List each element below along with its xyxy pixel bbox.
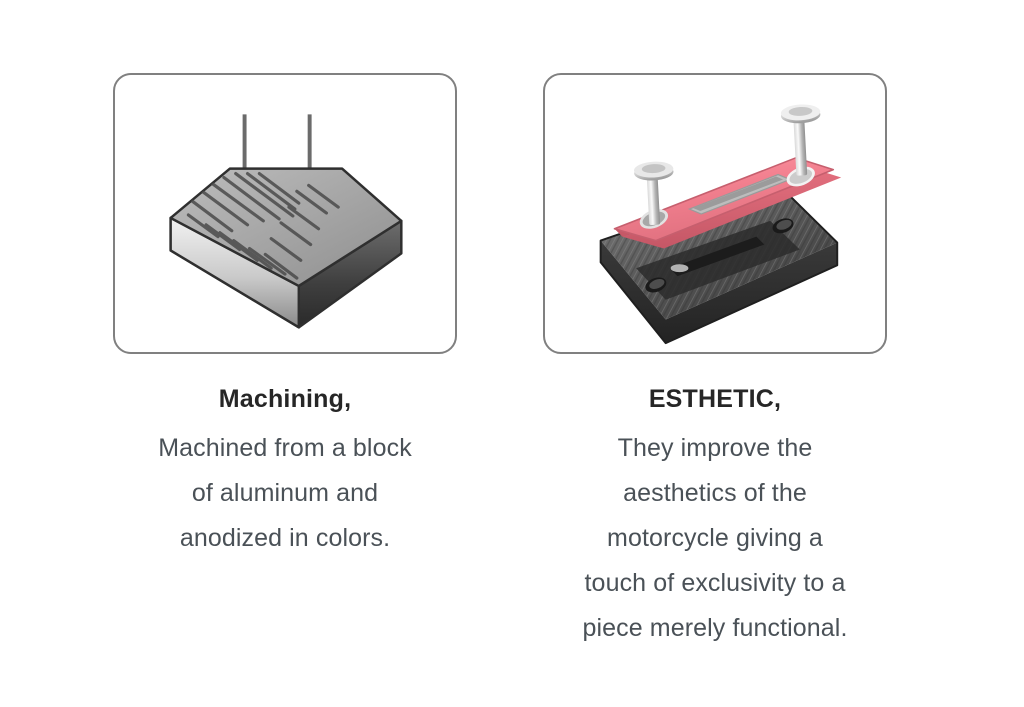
anodized-bracket-icon (545, 75, 885, 352)
esthetic-description-line: aesthetics of the (535, 471, 895, 516)
machining-description-line: of aluminum and (105, 471, 465, 516)
machining-icon-card (113, 73, 457, 354)
esthetic-icon-card (543, 73, 887, 354)
cnc-milling-icon (115, 75, 455, 352)
esthetic-description-line: motorcycle giving a (535, 516, 895, 561)
esthetic-title: ESTHETIC, (649, 384, 781, 414)
machining-description: Machined from a block of aluminum and an… (105, 426, 465, 561)
esthetic-description: They improve the aesthetics of the motor… (535, 426, 895, 651)
feature-column-esthetic: ESTHETIC, They improve the aesthetics of… (542, 73, 888, 651)
machining-title: Machining, (219, 384, 352, 414)
machining-description-line: Machined from a block (105, 426, 465, 471)
feature-grid: Machining, Machined from a block of alum… (0, 0, 1024, 707)
esthetic-description-line: touch of exclusivity to a (535, 561, 895, 606)
feature-column-machining: Machining, Machined from a block of alum… (112, 73, 458, 561)
esthetic-description-line: They improve the (535, 426, 895, 471)
esthetic-description-line: piece merely functional. (535, 606, 895, 651)
machining-description-line: anodized in colors. (105, 516, 465, 561)
